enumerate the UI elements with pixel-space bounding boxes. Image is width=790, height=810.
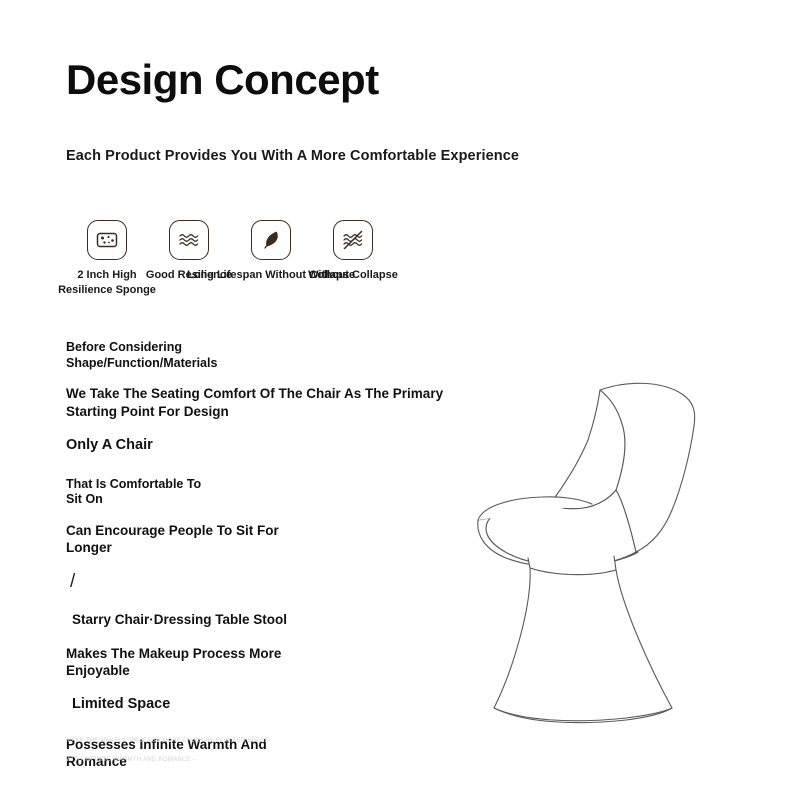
footnote: MAKE THE MAKEUP PROCESS MORE ENJOYABLELI… <box>66 738 396 776</box>
concept-copy: Before Considering Shape/Function/Materi… <box>66 340 466 787</box>
feature-label: 2 Inch High Resilience Sponge <box>55 268 160 298</box>
feature-item-lifespan: Long Lifespan Without Collapse <box>230 220 312 283</box>
waves-icon <box>169 220 209 260</box>
no-collapse-waves-icon <box>333 220 373 260</box>
feature-label: Without Collapse <box>308 268 398 283</box>
footnote-line-2: WITH INFINITE WARMTH AND ROMANCE – <box>66 757 396 763</box>
copy-line-only-a-chair: Only A Chair <box>66 436 466 455</box>
page-title: Design Concept <box>66 58 379 102</box>
feature-item-no-collapse: Without Collapse <box>312 220 394 283</box>
feature-list: 2 Inch High Resilience Sponge Good Resil… <box>66 220 396 310</box>
page-subtitle: Each Product Provides You With A More Co… <box>66 148 519 164</box>
design-concept-page: Design Concept Each Product Provides You… <box>0 0 790 810</box>
copy-line-limited-space: Limited Space <box>66 695 466 714</box>
chair-illustration <box>450 368 735 730</box>
feature-item-sponge: 2 Inch High Resilience Sponge <box>66 220 148 298</box>
copy-line-before-considering: Before Considering Shape/Function/Materi… <box>66 340 466 371</box>
footnote-line-1: MAKE THE MAKEUP PROCESS MORE ENJOYABLELI… <box>66 738 396 744</box>
copy-line-product-name: Starry Chair·Dressing Table Stool <box>66 611 466 628</box>
copy-line-makeup-enjoyable: Makes The Makeup Process More Enjoyable <box>66 645 466 680</box>
feather-icon <box>251 220 291 260</box>
copy-line-encourage-longer: Can Encourage People To Sit For Longer <box>66 522 466 557</box>
slash-divider: / <box>66 572 466 591</box>
copy-line-seating-comfort: We Take The Seating Comfort Of The Chair… <box>66 385 466 420</box>
sponge-icon <box>87 220 127 260</box>
copy-line-comfortable-to-sit: That Is Comfortable To Sit On <box>66 477 466 508</box>
